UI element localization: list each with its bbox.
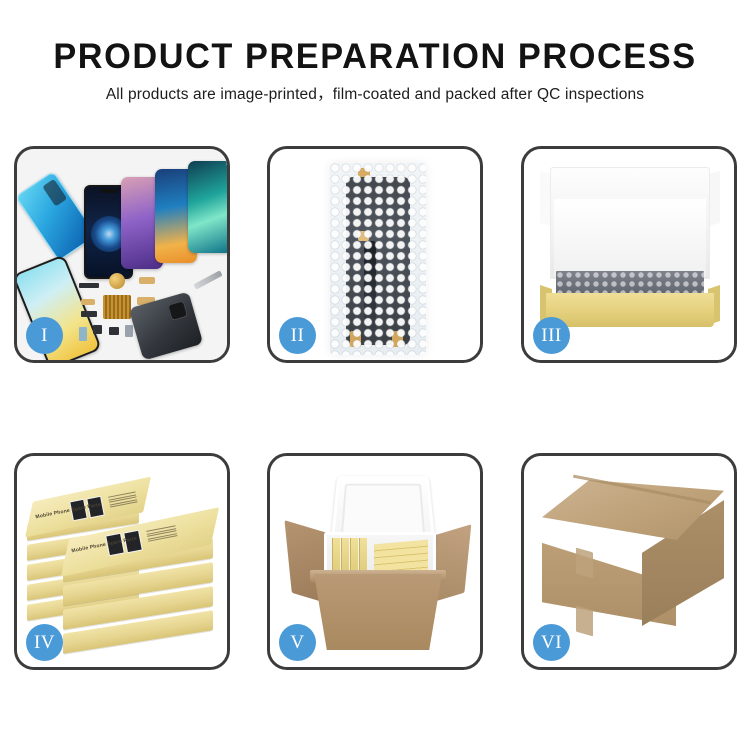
step-badge-3: III xyxy=(533,317,570,354)
bubble-texture-icon xyxy=(330,163,426,355)
sealed-carton-icon xyxy=(542,480,724,640)
process-step-1: I xyxy=(14,146,230,363)
process-step-6: VI xyxy=(521,453,737,670)
step-badge-2: II xyxy=(279,317,316,354)
box-foam-liner-icon xyxy=(554,199,706,277)
product-preparation-process-page: PRODUCT PREPARATION PROCESS All products… xyxy=(0,0,750,750)
part-camera-ring-icon xyxy=(109,273,125,289)
step-badge-1: I xyxy=(26,317,63,354)
part-bracket-icon xyxy=(81,311,97,317)
part-bar-icon xyxy=(79,283,99,288)
process-step-3: III xyxy=(521,146,737,363)
process-step-grid: I II xyxy=(14,146,737,670)
process-step-4: Mobile Phone Spare Parts Mobile Phone Sp… xyxy=(14,453,230,670)
header: PRODUCT PREPARATION PROCESS All products… xyxy=(0,36,750,105)
step-badge-4: IV xyxy=(26,624,63,661)
part-chip-icon xyxy=(93,325,102,334)
part-connector-icon xyxy=(81,299,95,305)
open-yellow-box-icon xyxy=(540,167,720,337)
carton-tape-icon xyxy=(576,548,593,579)
page-title: PRODUCT PREPARATION PROCESS xyxy=(8,36,743,78)
step-badge-6: VI xyxy=(533,624,570,661)
box-tray-front-icon xyxy=(546,293,714,327)
open-shipping-carton-icon xyxy=(288,470,468,660)
phone-teal-icon xyxy=(188,161,227,253)
page-subtitle: All products are image-printed，film-coat… xyxy=(0,85,750,105)
phone-notch-icon xyxy=(100,189,118,193)
part-sim-tray-icon xyxy=(79,327,87,341)
part-flex-cable-icon xyxy=(139,277,155,284)
carton-body-icon xyxy=(314,574,442,650)
part-button-icon xyxy=(125,325,133,337)
part-logic-board-icon xyxy=(103,295,131,319)
process-step-5: V xyxy=(267,453,483,670)
part-speaker-icon xyxy=(109,327,119,335)
carton-tape-icon xyxy=(576,606,593,637)
process-step-2: II xyxy=(267,146,483,363)
bubble-wrap-pouch-icon xyxy=(330,163,426,355)
step-badge-5: V xyxy=(279,624,316,661)
